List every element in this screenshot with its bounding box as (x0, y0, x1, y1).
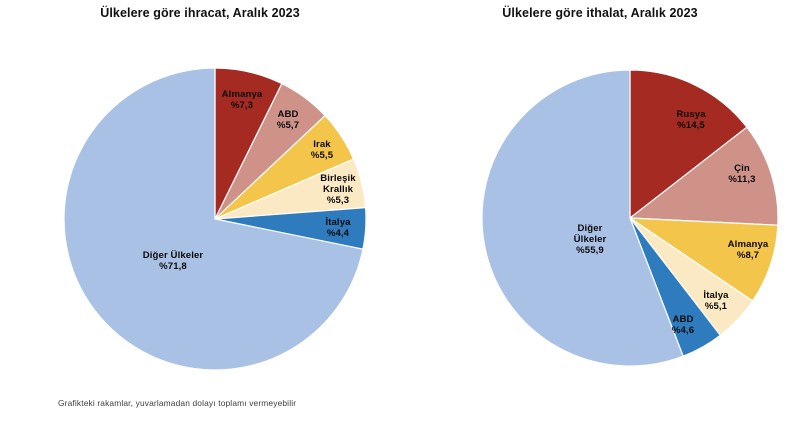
slice-label-exports-5: Diğer Ülkeler%71,8 (143, 250, 204, 272)
slice-label-exports-2: Irak%5,5 (311, 139, 333, 161)
slice-label-name: Diğer (574, 223, 607, 234)
slice-label-value: %5,1 (703, 301, 728, 312)
slice-label-value: %4,6 (672, 325, 694, 336)
slice-label-value: %71,8 (143, 261, 204, 272)
slice-label-name: Almanya (222, 89, 263, 100)
slice-label-name: Çin (728, 163, 755, 174)
slice-label-value: %5,5 (311, 150, 333, 161)
exports-pie (64, 68, 366, 370)
slice-label-value: %7,3 (222, 100, 263, 111)
slice-label-name: ABD (672, 314, 694, 325)
imports-pie (482, 70, 778, 366)
slice-label-imports-3: İtalya%5,1 (703, 290, 728, 312)
slice-label-exports-1: ABD%5,7 (277, 109, 299, 131)
slice-label-name: Rusya (676, 109, 705, 120)
slice-label-value: %8,7 (728, 250, 769, 261)
slice-label-imports-4: ABD%4,6 (672, 314, 694, 336)
slice-label-name: Irak (311, 139, 333, 150)
slice-label-value: %55,9 (574, 246, 607, 257)
slice-label-name: Diğer Ülkeler (143, 250, 204, 261)
slice-label-name: İtalya (325, 217, 350, 228)
slice-label-imports-2: Almanya%8,7 (728, 239, 769, 261)
slice-label-name: Krallık (320, 184, 355, 195)
slice-label-value: %4,4 (325, 228, 350, 239)
slice-label-exports-4: İtalya%4,4 (325, 217, 350, 239)
chart-page: Ülkelere göre ihracat, Aralık 2023 Ülkel… (0, 0, 800, 427)
slice-label-exports-3: BirleşikKrallık%5,3 (320, 173, 355, 207)
slice-label-name: İtalya (703, 290, 728, 301)
slice-label-value: %14,5 (676, 120, 705, 131)
slice-label-value: %5,3 (320, 196, 355, 207)
slice-label-name: Birleşik (320, 173, 355, 184)
slice-label-value: %11,3 (728, 174, 755, 185)
footnote-text: Grafikteki rakamlar, yuvarlamadan dolayı… (58, 398, 296, 408)
slice-label-name: Almanya (728, 239, 769, 250)
pie-charts-canvas (0, 0, 800, 427)
slice-label-imports-1: Çin%11,3 (728, 163, 755, 185)
slice-label-name: ABD (277, 109, 299, 120)
slice-label-exports-0: Almanya%7,3 (222, 89, 263, 111)
slice-label-imports-0: Rusya%14,5 (676, 109, 705, 131)
slice-label-name: Ülkeler (574, 234, 607, 245)
slice-label-value: %5,7 (277, 120, 299, 131)
slice-label-imports-5: DiğerÜlkeler%55,9 (574, 223, 607, 257)
